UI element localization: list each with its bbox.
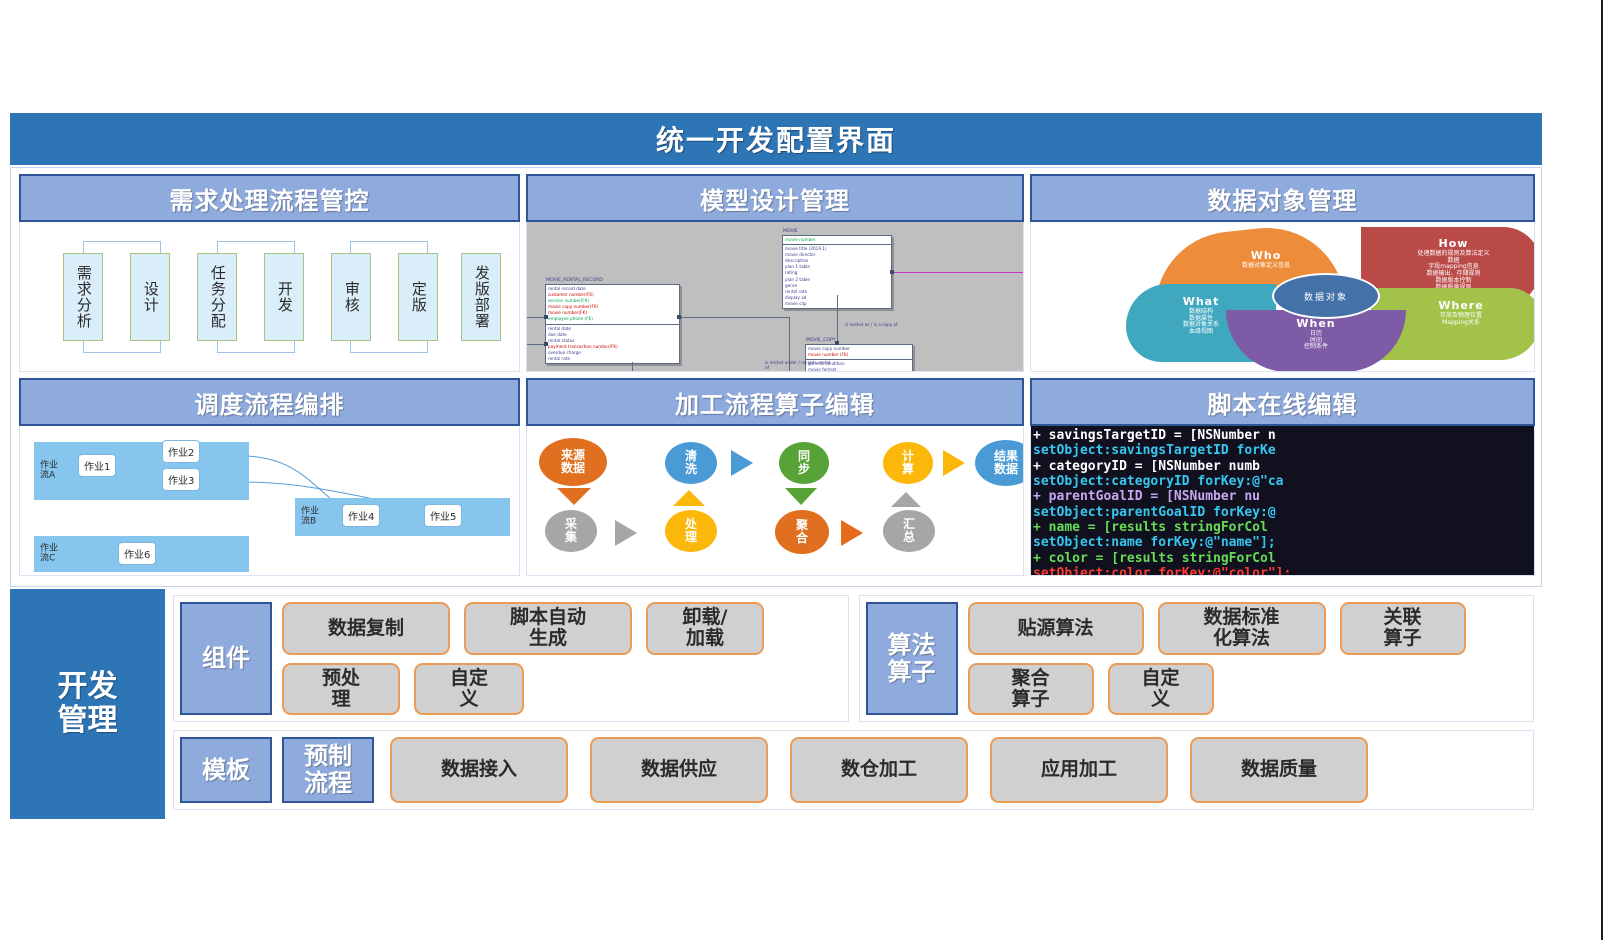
er-entity-rental-record[interactable]: MOVIE_RENTAL_RECORD rental record date c…: [545, 284, 680, 364]
flow-connector-top-1: [83, 241, 161, 253]
er-endpoint: [677, 315, 681, 319]
code-line: setObject:savingsTargetID forKe: [1033, 443, 1276, 458]
requirement-node-5[interactable]: 审核: [331, 253, 371, 341]
er-connector: [632, 362, 633, 372]
code-line: setObject:name forKey:@"name"];: [1033, 535, 1276, 550]
panel-row-top: 需求处理流程管控 需求分析 设计 任务分配 开发 审核 定版 发版部署: [19, 174, 1535, 372]
er-endpoint: [835, 341, 839, 345]
pie-label-when: When 日历 时间 控制条件: [1246, 318, 1386, 351]
banner-title: 统一开发配置界面: [656, 119, 896, 159]
arrow-up-gray: [891, 492, 921, 507]
chip-warehouse-processing[interactable]: 数仓加工: [790, 737, 968, 803]
pie-label-how: How 处理数据的规则及算法定义 数据 字段mapping信息 数据输出、存储规…: [1376, 238, 1531, 292]
operator-node-source[interactable]: 来源 数据: [539, 438, 607, 486]
card-templates[interactable]: 模板 预制 流程 数据接入 数据供应 数仓加工 应用加工 数据质量: [173, 730, 1534, 810]
pie-label-who: Who 数据对象定义信息: [1201, 250, 1331, 270]
chip-preprocess[interactable]: 预处 理: [282, 663, 400, 716]
page-right-border: [1601, 0, 1611, 940]
er-field: movie number (FK): [808, 352, 910, 358]
panel-operator-edit-body: 来源 数据 清 洗 同 步 计 算 结果 数据 采 集 处 理 聚 合 汇 总: [526, 426, 1024, 576]
chip-data-quality[interactable]: 数据质量: [1190, 737, 1368, 803]
panel-model-design-title: 模型设计管理: [526, 174, 1024, 222]
code-line: + savingsTargetID = [NSNumber n: [1033, 428, 1276, 443]
chip-standardization-algorithm[interactable]: 数据标准 化算法: [1158, 602, 1326, 655]
job-group-a-label: 作业 流A: [40, 461, 58, 482]
flow-connector-top-3: [350, 241, 428, 253]
operator-node-aggregate[interactable]: 聚 合: [775, 510, 829, 554]
development-row-components: 组件 数据复制 脚本自动 生成 卸载/ 加载 预处 理 自定 义 算法 算子 贴…: [173, 595, 1534, 722]
panel-model-design-body: MOVIE movie number movie title (2019.1) …: [526, 222, 1024, 372]
panel-schedule[interactable]: 调度流程编排 作业 流A 作业1 作业2 作业3: [19, 378, 520, 576]
job-node-1[interactable]: 作业1: [78, 454, 116, 477]
panel-schedule-body: 作业 流A 作业1 作业2 作业3 作业 流B 作业4 作业5 作业 流C 作业…: [19, 426, 520, 576]
chip-data-replication[interactable]: 数据复制: [282, 602, 450, 655]
requirement-node-7[interactable]: 发版部署: [461, 253, 501, 341]
code-line: setObject:color forKey:@"color"];: [1033, 566, 1291, 575]
er-entity-rental-record-name: MOVIE_RENTAL_RECORD: [546, 278, 603, 285]
arrow-right-gray: [615, 520, 637, 546]
chip-script-autogen[interactable]: 脚本自动 生成: [464, 602, 632, 655]
er-endpoint: [890, 270, 894, 274]
panel-model-design[interactable]: 模型设计管理 MOVIE movie number movie title (2…: [526, 174, 1024, 372]
arrow-down-orange: [557, 488, 591, 505]
job-node-5[interactable]: 作业5: [424, 504, 462, 527]
panel-row-bottom: 调度流程编排 作业 流A 作业1 作业2 作业3: [19, 378, 1535, 576]
chip-custom-operator[interactable]: 自定 义: [1108, 663, 1214, 716]
er-endpoint: [544, 315, 548, 319]
components-chip-list: 数据复制 脚本自动 生成 卸载/ 加载 预处 理 自定 义: [282, 602, 842, 715]
code-line: + color = [results stringForCol: [1033, 551, 1276, 566]
panel-data-object-body: Who 数据对象定义信息 How 处理数据的规则及算法定义 数据 字段mappi…: [1030, 222, 1535, 372]
job-group-c-label: 作业 流C: [40, 544, 58, 565]
panel-script-edit[interactable]: 脚本在线编辑 + savingsTargetID = [NSNumber n s…: [1030, 378, 1535, 576]
operator-node-clean[interactable]: 清 洗: [665, 442, 717, 484]
requirement-node-2[interactable]: 设计: [130, 253, 170, 341]
requirement-node-6[interactable]: 定版: [398, 253, 438, 341]
algorithm-chip-list: 贴源算法 数据标准 化算法 关联 算子 聚合 算子 自定 义: [968, 602, 1528, 715]
pie-center-label: 数据对象: [1272, 273, 1380, 319]
arrow-right-yellow: [943, 450, 965, 476]
er-entity-movie-copy-name: MOVIE_COPY: [806, 338, 836, 345]
job-group-a[interactable]: 作业 流A: [34, 442, 249, 500]
panel-script-edit-body: + savingsTargetID = [NSNumber n setObjec…: [1030, 426, 1535, 576]
job-node-4[interactable]: 作业4: [342, 504, 380, 527]
template-chip-list: 数据接入 数据供应 数仓加工 应用加工 数据质量: [384, 737, 1527, 803]
panel-requirement-body: 需求分析 设计 任务分配 开发 审核 定版 发版部署: [19, 222, 520, 372]
flow-connector-top-2: [217, 241, 295, 253]
flow-connector-bottom-2: [217, 341, 295, 353]
operator-node-result[interactable]: 结果 数据: [975, 440, 1024, 486]
operator-flow-canvas: 来源 数据 清 洗 同 步 计 算 结果 数据 采 集 处 理 聚 合 汇 总: [527, 426, 1023, 575]
er-field: rental rate: [548, 356, 677, 362]
chip-aggregate-operator[interactable]: 聚合 算子: [968, 663, 1094, 716]
code-editor[interactable]: + savingsTargetID = [NSNumber n setObjec…: [1031, 426, 1534, 575]
er-endpoint: [544, 342, 548, 346]
panel-operator-edit-title: 加工流程算子编辑: [526, 378, 1024, 426]
flow-connector-bottom-3: [350, 341, 428, 353]
panel-script-edit-title: 脚本在线编辑: [1030, 378, 1535, 426]
requirement-node-3[interactable]: 任务分配: [197, 253, 237, 341]
operator-node-compute[interactable]: 计 算: [883, 442, 933, 484]
panel-schedule-title: 调度流程编排: [19, 378, 520, 426]
er-diagram: MOVIE movie number movie title (2019.1) …: [527, 222, 1023, 371]
arrow-down-green: [785, 488, 817, 505]
category-preset-flow: 预制 流程: [282, 737, 374, 803]
requirement-node-1[interactable]: 需求分析: [63, 253, 103, 341]
er-entity-movie-key: movie number: [785, 237, 889, 243]
er-connector-highlight: [893, 272, 1024, 273]
panel-operator-edit[interactable]: 加工流程算子编辑 来源 数据 清 洗 同 步 计 算 结果 数据 采 集 处 理…: [526, 378, 1024, 576]
er-connector: [680, 317, 790, 318]
arrow-right-blue: [731, 450, 753, 476]
panel-data-object[interactable]: 数据对象管理 Who 数据对象定义信息 How 处理数据的规则及算法定义 数据 …: [1030, 174, 1535, 372]
code-line: setObject:parentGoalID forKey:@: [1033, 505, 1276, 520]
main-banner: 统一开发配置界面: [10, 113, 1542, 165]
code-line: setObject:categoryID forKey:@"ca: [1033, 474, 1283, 489]
chip-application-processing[interactable]: 应用加工: [990, 737, 1168, 803]
chip-source-algorithm[interactable]: 贴源算法: [968, 602, 1144, 655]
er-entity-movie-name: MOVIE: [783, 229, 798, 236]
operator-node-summary[interactable]: 汇 总: [883, 510, 935, 552]
card-algorithm-operators[interactable]: 算法 算子 贴源算法 数据标准 化算法 关联 算子 聚合 算子 自定 义: [859, 595, 1535, 722]
category-algorithm-operators: 算法 算子: [866, 602, 958, 715]
panel-requirement-title: 需求处理流程管控: [19, 174, 520, 222]
development-management-label: 开发 管理: [10, 589, 165, 819]
development-content: 组件 数据复制 脚本自动 生成 卸载/ 加载 预处 理 自定 义 算法 算子 贴…: [165, 589, 1542, 819]
job-group-b[interactable]: 作业 流B: [295, 498, 510, 536]
upper-panel-frame: 需求处理流程管控 需求分析 设计 任务分配 开发 审核 定版 发版部署: [10, 167, 1542, 587]
card-components[interactable]: 组件 数据复制 脚本自动 生成 卸载/ 加载 预处 理 自定 义: [173, 595, 849, 722]
job-node-3[interactable]: 作业3: [162, 468, 200, 491]
code-line: + name = [results stringForCol: [1033, 520, 1268, 535]
arrow-right-orange: [841, 520, 863, 546]
job-node-2[interactable]: 作业2: [162, 440, 200, 463]
chip-join-operator[interactable]: 关联 算子: [1340, 602, 1466, 655]
chip-data-supply[interactable]: 数据供应: [590, 737, 768, 803]
requirement-node-4[interactable]: 开发: [264, 253, 304, 341]
job-group-b-label: 作业 流B: [301, 507, 319, 528]
panel-data-object-title: 数据对象管理: [1030, 174, 1535, 222]
requirement-flow: 需求分析 设计 任务分配 开发 审核 定版 发版部署: [20, 222, 519, 371]
chip-custom-component[interactable]: 自定 义: [414, 663, 524, 716]
flow-connector-bottom-1: [83, 341, 161, 353]
code-line: + parentGoalID = [NSNumber nu: [1033, 489, 1260, 504]
chip-unload-load[interactable]: 卸载/ 加载: [646, 602, 764, 655]
operator-node-sync[interactable]: 同 步: [779, 442, 829, 484]
er-relation-label-1: is rented as / is a copy of: [845, 322, 925, 327]
er-relation-label-2: is rented under / records rental of: [765, 360, 835, 371]
operator-node-collect[interactable]: 采 集: [545, 510, 597, 552]
code-line: + categoryID = [NSNumber numb: [1033, 459, 1260, 474]
development-management-section: 开发 管理 组件 数据复制 脚本自动 生成 卸载/ 加载 预处 理 自定 义 算…: [10, 589, 1542, 819]
pie-label-where: Where 存放及物理位置 Mapping关系: [1386, 300, 1535, 326]
job-node-6[interactable]: 作业6: [118, 542, 156, 565]
data-object-pie-chart: Who 数据对象定义信息 How 处理数据的规则及算法定义 数据 字段mappi…: [1031, 222, 1534, 371]
er-field: employee phone (FK): [548, 316, 677, 322]
arrow-up-yellow: [673, 490, 705, 506]
category-components: 组件: [180, 602, 272, 715]
job-flow-canvas: 作业 流A 作业1 作业2 作业3 作业 流B 作业4 作业5 作业 流C 作业…: [20, 426, 519, 575]
panel-requirement-process[interactable]: 需求处理流程管控 需求分析 设计 任务分配 开发 审核 定版 发版部署: [19, 174, 520, 372]
category-template: 模板: [180, 737, 272, 803]
operator-node-process[interactable]: 处 理: [665, 510, 717, 552]
er-connector: [837, 295, 838, 344]
chip-data-ingest[interactable]: 数据接入: [390, 737, 568, 803]
